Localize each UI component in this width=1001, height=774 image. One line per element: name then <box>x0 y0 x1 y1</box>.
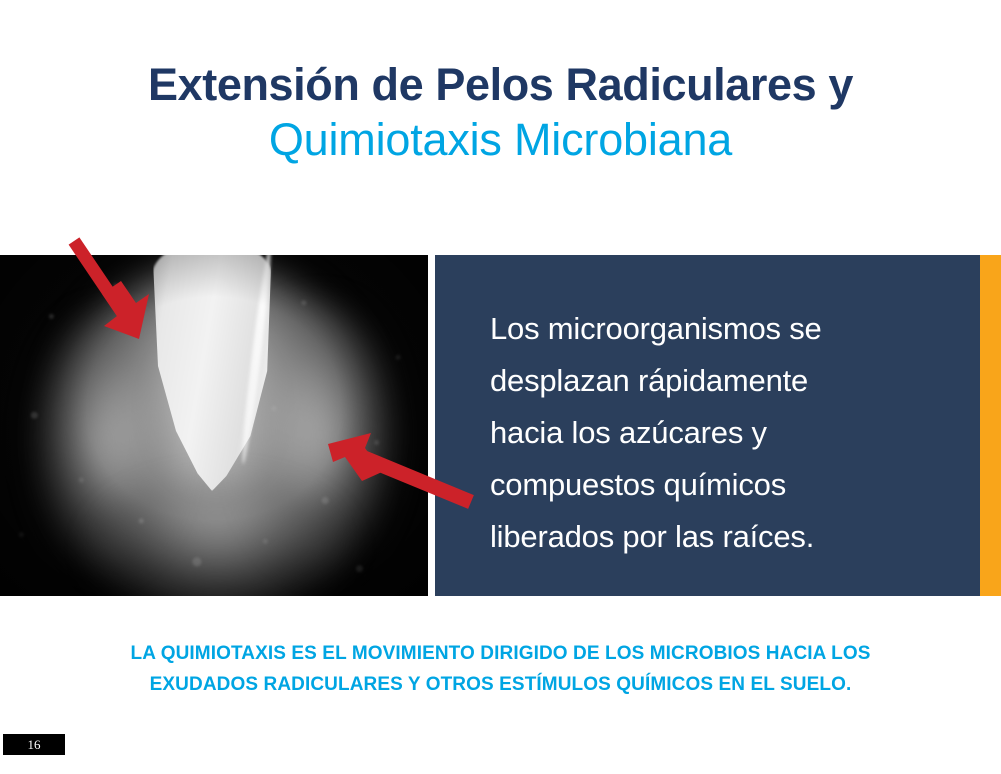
body-text-panel: Los microorganismos se desplazan rápidam… <box>435 255 980 596</box>
body-line-2: desplazan rápidamente <box>490 355 960 407</box>
body-text: Los microorganismos se desplazan rápidam… <box>490 303 960 563</box>
caption-line-1: LA QUIMIOTAXIS ES EL MOVIMIENTO DIRIGIDO… <box>0 638 1001 669</box>
body-line-1: Los microorganismos se <box>490 303 960 355</box>
slide-number: 16 <box>3 734 65 755</box>
page-title: Extensión de Pelos Radiculares y Quimiot… <box>0 62 1001 162</box>
title-line-2: Quimiotaxis Microbiana <box>0 117 1001 162</box>
body-line-5: liberados por las raíces. <box>490 511 960 563</box>
root-micrograph-image <box>0 255 428 596</box>
slide-number-badge: 16 <box>3 734 65 755</box>
body-line-3: hacia los azúcares y <box>490 407 960 459</box>
title-line-1: Extensión de Pelos Radiculares y <box>0 62 1001 107</box>
caption-line-2: EXUDADOS RADICULARES Y OTROS ESTÍMULOS Q… <box>0 669 1001 700</box>
image-vignette <box>0 255 428 596</box>
caption: LA QUIMIOTAXIS ES EL MOVIMIENTO DIRIGIDO… <box>0 638 1001 700</box>
body-line-4: compuestos químicos <box>490 459 960 511</box>
accent-bar <box>980 255 1001 596</box>
